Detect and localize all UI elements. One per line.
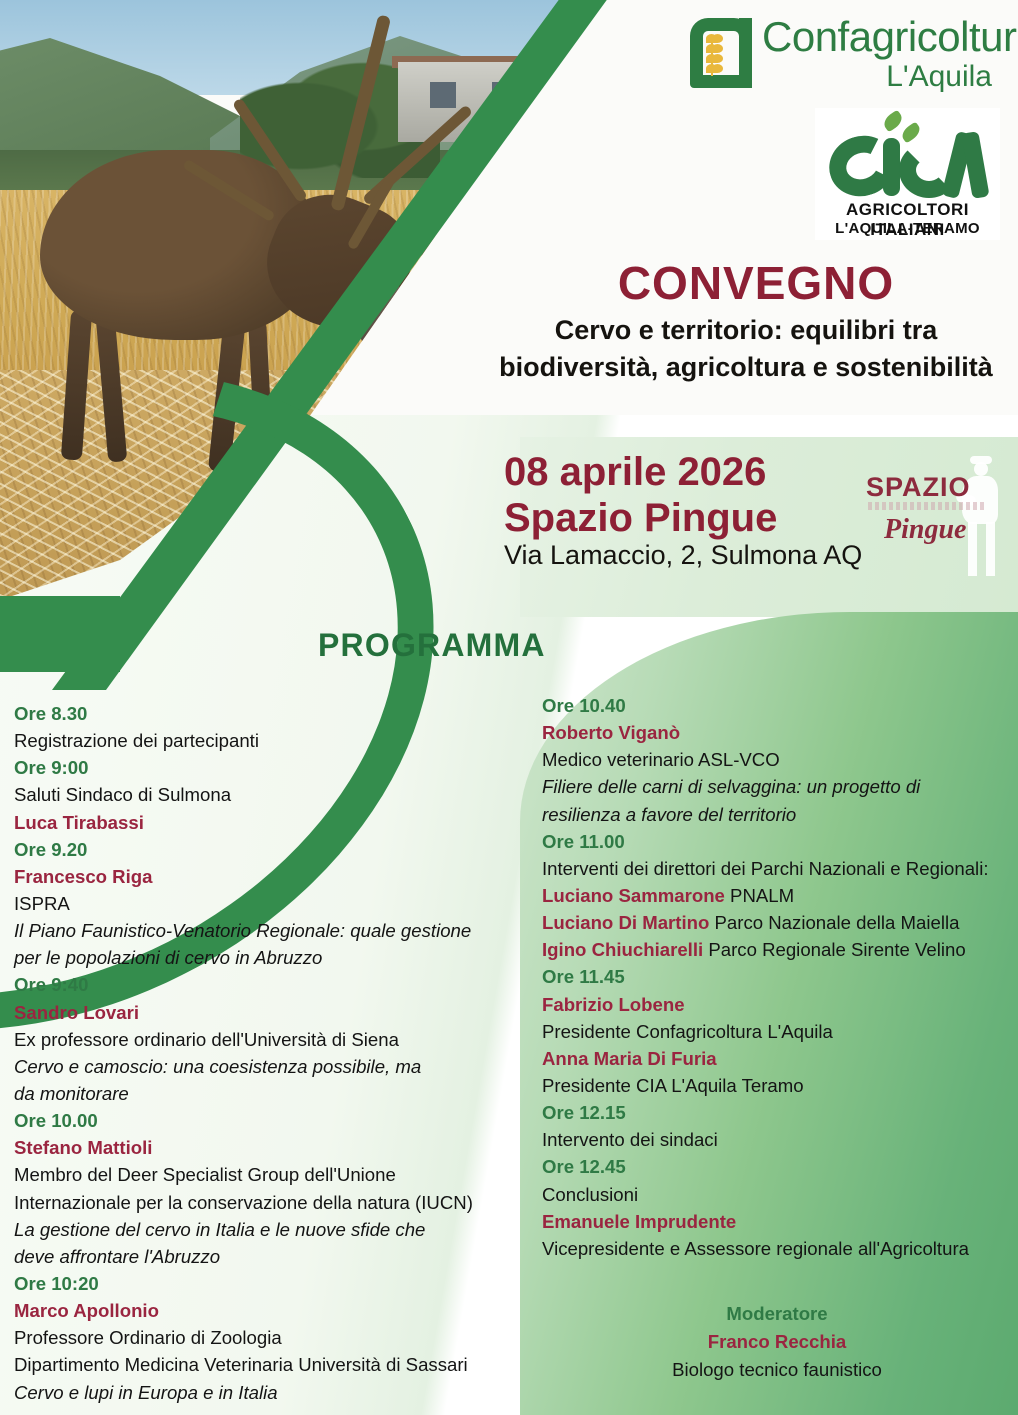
cia-line2: L'AQUILA-TERAMO: [815, 220, 1000, 237]
confagricoltura-wheat-icon: [690, 18, 752, 88]
program-talk-title: da monitorare: [14, 1080, 509, 1107]
program-detail: Internazionale per la conservazione dell…: [14, 1189, 509, 1216]
confagricoltura-logo: Confagricoltura L'Aquila: [690, 14, 1002, 100]
event-kicker: CONVEGNO: [494, 256, 1018, 310]
program-speaker-affiliation: PNALM: [725, 885, 794, 906]
program-detail: Vicepresidente e Assessore regionale all…: [542, 1235, 1012, 1262]
program-speaker-name: Francesco Riga: [14, 863, 509, 890]
moderator-label: Moderatore: [542, 1300, 1012, 1328]
cia-logo: AGRICOLTORI ITALIANI L'AQUILA-TERAMO: [815, 108, 1000, 240]
program-speaker-name: Luciano Di Martino: [542, 912, 709, 933]
spazio-pingue-logo: SPAZIO Pingue: [862, 462, 1010, 580]
program-speaker-name: Luca Tirabassi: [14, 809, 509, 836]
program-entry-pair: Igino Chiuchiarelli Parco Regionale Sire…: [542, 936, 1012, 963]
program-speaker-name: Roberto Viganò: [542, 719, 1012, 746]
program-speaker-name: Stefano Mattioli: [14, 1134, 509, 1161]
program-time: Ore 8.30: [14, 700, 509, 727]
program-talk-title: La gestione del cervo in Italia e le nuo…: [14, 1216, 509, 1243]
program-left-column: Ore 8.30Registrazione dei partecipantiOr…: [14, 700, 509, 1406]
program-speaker-name: Sandro Lovari: [14, 999, 509, 1026]
program-detail: Intervento dei sindaci: [542, 1126, 1012, 1153]
event-venue: Spazio Pingue: [504, 498, 777, 539]
program-talk-title: deve affrontare l'Abruzzo: [14, 1243, 509, 1270]
program-talk-title: Il Piano Faunistico-Venatorio Regionale:…: [14, 917, 509, 944]
program-talk-title: Cervo e lupi in Europa e in Italia: [14, 1379, 509, 1406]
program-time: Ore 11.45: [542, 963, 1012, 990]
pingue-line2: Pingue: [884, 514, 966, 546]
program-time: Ore 9:00: [14, 754, 509, 781]
program-entry-pair: Luciano Sammarone PNALM: [542, 882, 1012, 909]
program-detail: Medico veterinario ASL-VCO: [542, 746, 1012, 773]
program-time: Ore 9.20: [14, 836, 509, 863]
program-speaker-name: Emanuele Imprudente: [542, 1208, 1012, 1235]
program-speaker-name: Luciano Sammarone: [542, 885, 725, 906]
program-speaker-name: Anna Maria Di Furia: [542, 1045, 1012, 1072]
program-time: Ore 12.45: [542, 1153, 1012, 1180]
poster-canvas: Confagricoltura L'Aquila AGRICOLTORI ITA…: [0, 0, 1018, 1415]
cia-emblem-icon: [827, 112, 987, 198]
program-detail: Ex professore ordinario dell'Università …: [14, 1026, 509, 1053]
program-talk-title: Filiere delle carni di selvaggina: un pr…: [542, 773, 1012, 800]
program-time: Ore 10.00: [14, 1107, 509, 1134]
program-speaker-affiliation: Parco Nazionale della Maiella: [709, 912, 959, 933]
program-detail: Presidente CIA L'Aquila Teramo: [542, 1072, 1012, 1099]
program-detail: Dipartimento Medicina Veterinaria Univer…: [14, 1351, 509, 1378]
moderator-block: Moderatore Franco Recchia Biologo tecnic…: [542, 1300, 1012, 1384]
program-detail: Presidente Confagricoltura L'Aquila: [542, 1018, 1012, 1045]
moderator-name: Franco Recchia: [542, 1328, 1012, 1356]
program-detail: ISPRA: [14, 890, 509, 917]
event-subtitle: Cervo e territorio: equilibri tra biodiv…: [474, 312, 1018, 385]
program-entry-pair: Luciano Di Martino Parco Nazionale della…: [542, 909, 1012, 936]
program-time: Ore 9:40: [14, 971, 509, 998]
confagricoltura-territory: L'Aquila: [762, 62, 992, 92]
program-time: Ore 10.40: [542, 692, 1012, 719]
program-talk-title: Cervo e camoscio: una coesistenza possib…: [14, 1053, 509, 1080]
confagricoltura-name: Confagricoltura: [762, 16, 1018, 58]
program-time: Ore 12.15: [542, 1099, 1012, 1126]
event-date: 08 aprile 2026: [504, 452, 766, 493]
program-speaker-name: Marco Apollonio: [14, 1297, 509, 1324]
program-talk-title: per le popolazioni di cervo in Abruzzo: [14, 944, 509, 971]
event-address: Via Lamaccio, 2, Sulmona AQ: [504, 540, 862, 571]
program-detail: Professore Ordinario di Zoologia: [14, 1324, 509, 1351]
program-title: PROGRAMMA: [318, 627, 546, 664]
program-detail: Saluti Sindaco di Sulmona: [14, 781, 509, 808]
moderator-role: Biologo tecnico faunistico: [542, 1356, 1012, 1384]
program-talk-title: resilienza a favore del territorio: [542, 801, 1012, 828]
program-time: Ore 10:20: [14, 1270, 509, 1297]
program-time: Ore 11.00: [542, 828, 1012, 855]
program-detail: Interventi dei direttori dei Parchi Nazi…: [542, 855, 1012, 882]
program-right-column: Ore 10.40Roberto ViganòMedico veterinari…: [542, 692, 1012, 1262]
event-subtitle-line1: Cervo e territorio: equilibri tra: [555, 315, 938, 345]
program-speaker-name: Fabrizio Lobene: [542, 991, 1012, 1018]
pingue-line1: SPAZIO: [866, 472, 971, 503]
program-detail: Registrazione dei partecipanti: [14, 727, 509, 754]
program-speaker-affiliation: Parco Regionale Sirente Velino: [703, 939, 966, 960]
event-subtitle-line2: biodiversità, agricoltura e sostenibilit…: [499, 352, 993, 382]
program-detail: Membro del Deer Specialist Group dell'Un…: [14, 1161, 509, 1188]
program-detail: Conclusioni: [542, 1181, 1012, 1208]
program-speaker-name: Igino Chiuchiarelli: [542, 939, 703, 960]
